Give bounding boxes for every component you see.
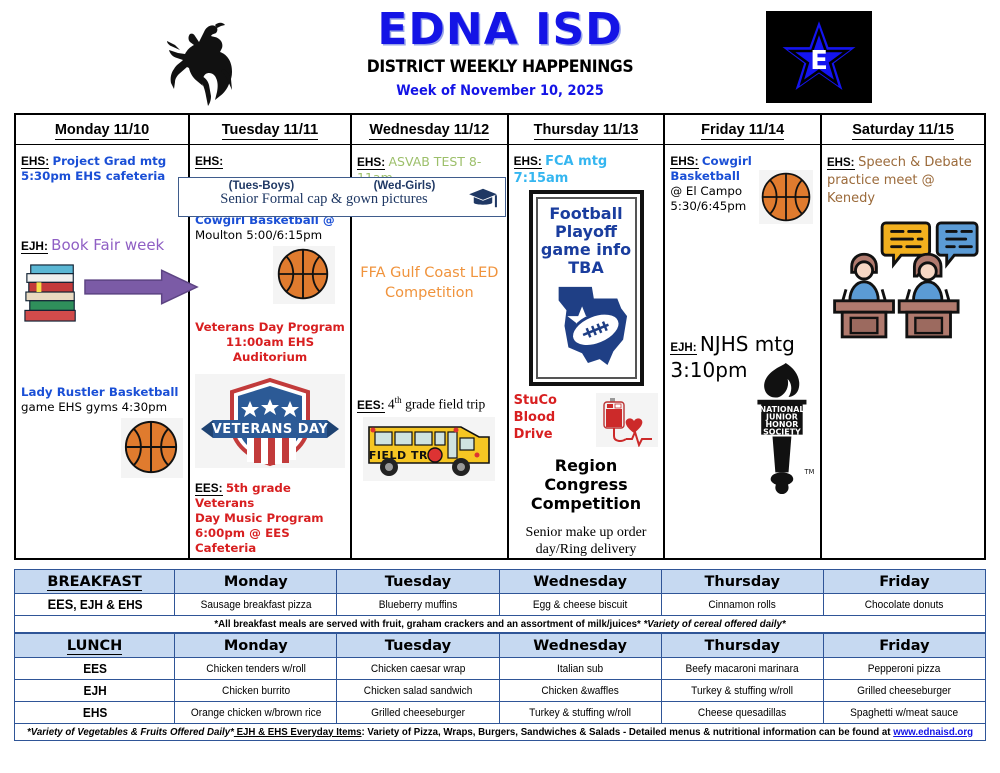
breakfast-row-label: EES, EJH & EHS — [19, 594, 171, 616]
tag-ehs: EHS: — [670, 154, 698, 169]
calendar-column-saturday: Saturday 11/15 EHS: Speech & Debate prac… — [822, 115, 984, 558]
event-text-line3: 5:30/6:45pm — [670, 199, 746, 213]
tag-ejh: EJH: — [21, 239, 48, 254]
event-text: NJHS mtg — [700, 332, 795, 356]
header-divider — [352, 144, 507, 145]
bucking-bronco-logo — [160, 14, 266, 110]
breakfast-label-rest: , EJH & EHS — [73, 598, 142, 612]
texas-football-icon — [539, 279, 633, 365]
lunch-ejh-tuesday: Chicken salad sandwich — [343, 680, 492, 702]
day-heading-thursday-text: Thursday 11/13 — [534, 122, 639, 140]
table-row: EHS Orange chicken w/brown rice Grilled … — [15, 702, 986, 724]
breakfast-title-cell: BREAKFAST — [15, 570, 175, 594]
breakfast-col-friday: Friday — [823, 570, 985, 594]
header-divider — [190, 144, 350, 145]
graduation-cap-icon — [467, 186, 499, 210]
lunch-note-row: *Variety of Vegetables & Fruits Offered … — [15, 724, 986, 741]
tag-ejh: EJH: — [670, 342, 696, 355]
tag-ees: EES: — [357, 398, 385, 413]
table-row: EES Chicken tenders w/roll Chicken caesa… — [15, 658, 986, 680]
lunch-ees-tuesday: Chicken caesar wrap — [343, 658, 492, 680]
lunch-note-italic: *Variety of Vegetables & Fruits Offered … — [27, 727, 234, 738]
lunch-col-wednesday: Wednesday — [499, 634, 661, 658]
header-divider — [16, 144, 188, 145]
calendar-column-thursday: Thursday 11/13 EHS: FCA mtg 7:15am Footb… — [509, 115, 666, 558]
day-heading-monday-text: Monday 11/10 — [55, 122, 149, 140]
page-subtitle: DISTRICT WEEKLY HAPPENINGS — [288, 57, 711, 77]
lunch-ees-friday: Pepperoni pizza — [830, 658, 979, 680]
event-ees-veterans-music-program: EES: 5th grade Veterans Day Music Progra… — [195, 481, 345, 556]
event-text-line2: 11:00am EHS Auditorium — [226, 335, 314, 364]
day-heading-tuesday: Tuesday 11/11 — [195, 115, 345, 141]
capgown-day-labels: (Tues-Boys) (Wed-Girls) — [179, 178, 505, 192]
senior-cap-gown-pictures-box: (Tues-Boys) (Wed-Girls) Senior Formal ca… — [178, 177, 506, 217]
lunch-ehs-friday: Spaghetti w/meat sauce — [830, 702, 979, 724]
event-text: FFA Gulf Coast LED — [360, 265, 498, 281]
lunch-title-cell: LUNCH — [15, 634, 175, 658]
event-text: Senior make up order — [526, 525, 647, 540]
field-trip-bus-graphic: FIELD TRIP — [363, 417, 495, 481]
lunch-header-row: LUNCH Monday Tuesday Wednesday Thursday … — [15, 634, 986, 658]
event-cowgirl-basketball-elcampo: EHS: Cowgirl Basketball @ El Campo 5:30/… — [670, 154, 815, 214]
lunch-row-label-ehs: EHS — [19, 702, 171, 724]
header-divider — [665, 144, 820, 145]
breakfast-note-part1: *All breakfast meals are served with fru… — [214, 619, 643, 630]
event-text-line2: 5:30pm EHS cafeteria — [21, 169, 165, 183]
lunch-col-monday: Monday — [175, 634, 337, 658]
event-4th-grade-field-trip: EES: 4th grade field trip — [357, 395, 502, 413]
page-header: EDNA ISD DISTRICT WEEKLY HAPPENINGS Week… — [0, 0, 1000, 110]
poster-line-4: TBA — [568, 259, 604, 277]
tag-ehs: EHS: — [195, 154, 223, 169]
tag-ehs: EHS: — [514, 154, 542, 169]
breakfast-note: *All breakfast meals are served with fru… — [15, 616, 986, 633]
event-stuco-blood-drive: StuCo Blood Drive — [514, 393, 659, 447]
breakfast-menu-table: BREAKFAST Monday Tuesday Wednesday Thurs… — [14, 569, 986, 633]
event-lady-rustler-basketball: Lady Rustler Basketball game EHS gyms 4:… — [21, 385, 183, 415]
event-ffa-gulf-coast-led: FFA Gulf Coast LED Competition — [357, 264, 502, 303]
day-heading-friday-text: Friday 11/14 — [701, 122, 784, 140]
njhs-trademark: TM — [804, 468, 814, 476]
week-of-label: Week of November 10, 2025 — [286, 83, 714, 99]
breakfast-row: EES, EJH & EHS Sausage breakfast pizza B… — [15, 594, 986, 616]
lunch-ehs-wednesday: Turkey & stuffing w/roll — [506, 702, 655, 724]
day-heading-monday: Monday 11/10 — [21, 115, 183, 141]
njhs-torch-logo: NATIONAL JUNIOR HONOR SOCIETY TM — [748, 358, 814, 500]
lunch-note-rest: : Variety of Pizza, Wraps, Burgers, Sand… — [362, 727, 894, 738]
veterans-day-shield-icon: VETERANS DAY — [195, 374, 345, 468]
header-divider — [509, 144, 664, 145]
blood-donation-icon — [596, 393, 658, 447]
lunch-col-thursday: Thursday — [661, 634, 823, 658]
event-book-fair: EJH: Book Fair week — [21, 236, 183, 255]
event-text-line2: @ El Campo — [670, 184, 742, 198]
veterans-day-badge-graphic: VETERANS DAY — [195, 374, 345, 468]
logo-letter: E — [810, 46, 828, 76]
event-text: Veterans Day Program — [195, 320, 345, 334]
day-heading-tuesday-text: Tuesday 11/11 — [222, 122, 318, 140]
lunch-menu-table: LUNCH Monday Tuesday Wednesday Thursday … — [14, 633, 986, 741]
badge-text: VETERANS DAY — [212, 422, 329, 437]
lunch-note: *Variety of Vegetables & Fruits Offered … — [15, 724, 986, 741]
day-heading-saturday: Saturday 11/15 — [827, 115, 979, 141]
breakfast-header-row: BREAKFAST Monday Tuesday Wednesday Thurs… — [15, 570, 986, 594]
lunch-col-friday: Friday — [823, 634, 985, 658]
poster-line-1: Football — [549, 205, 622, 223]
football-playoff-poster: Football Playoff game info TBA — [529, 190, 644, 386]
basketball-icon — [759, 170, 813, 224]
tag-ehs: EHS: — [827, 157, 854, 170]
book-fair-graphics — [21, 257, 183, 345]
capgown-text: Senior Formal cap & gown pictures — [179, 191, 505, 208]
breakfast-label-bold: EES — [47, 597, 73, 612]
event-text: StuCo — [514, 393, 557, 408]
page-title: EDNA ISD — [270, 8, 730, 52]
breakfast-item-tuesday: Blueberry muffins — [343, 594, 492, 616]
event-text-line2: day/Ring delivery — [536, 542, 637, 557]
event-text: Project Grad mtg — [52, 154, 166, 168]
right-arrow-icon — [83, 267, 201, 307]
edna-isd-star-logo: E — [766, 11, 872, 103]
lunch-title: LUNCH — [67, 638, 122, 655]
lunch-ees-wednesday: Italian sub — [506, 658, 655, 680]
event-ehs-label: EHS: — [195, 154, 345, 169]
lunch-col-tuesday: Tuesday — [337, 634, 499, 658]
tag-ehs: EHS: — [357, 155, 385, 170]
title-block: EDNA ISD DISTRICT WEEKLY HAPPENINGS Week… — [270, 8, 730, 99]
lunch-ejh-monday: Chicken burrito — [181, 680, 330, 702]
blood-drive-graphic — [596, 393, 658, 447]
basketball-graphic-frame — [759, 170, 813, 224]
day-heading-wednesday-text: Wednesday 11/12 — [369, 122, 489, 140]
lunch-note-underline: EJH & EHS Everyday Items — [234, 727, 362, 738]
tag-ehs: EHS: — [21, 154, 49, 169]
event-text-line2: game EHS gyms 4:30pm — [21, 400, 167, 414]
breakfast-item-thursday: Cinnamon rolls — [668, 594, 817, 616]
event-text: Speech & Debate — [858, 155, 972, 170]
basketball-icon — [273, 246, 333, 302]
lunch-row-label-ejh: EJH — [19, 680, 171, 702]
breakfast-item-monday: Sausage breakfast pizza — [181, 594, 330, 616]
event-fca-meeting: EHS: FCA mtg 7:15am — [514, 154, 659, 187]
calendar-column-friday: Friday 11/14 EHS: Cowgirl Basketball @ E… — [665, 115, 822, 558]
breakfast-note-row: *All breakfast meals are served with fru… — [15, 616, 986, 633]
breakfast-col-wednesday: Wednesday — [499, 570, 661, 594]
day-heading-thursday: Thursday 11/13 — [514, 115, 659, 141]
breakfast-note-part2: *Variety of cereal offered daily* — [643, 619, 785, 630]
poster-inner: Football Playoff game info TBA — [536, 197, 637, 379]
event-text: Lady Rustler Basketball — [21, 385, 178, 399]
lunch-ehs-tuesday: Grilled cheeseburger — [343, 702, 492, 724]
lunch-ejh-friday: Grilled cheeseburger — [830, 680, 979, 702]
event-veterans-day-program: Veterans Day Program 11:00am EHS Auditor… — [195, 320, 345, 365]
school-bus-icon: FIELD TRIP — [363, 417, 495, 481]
basketball-graphic-frame — [273, 246, 335, 304]
calendar-column-monday: Monday 11/10 EHS: Project Grad mtg 5:30p… — [16, 115, 190, 558]
stack-of-books-icon — [23, 257, 81, 329]
breakfast-title: BREAKFAST — [47, 574, 141, 591]
lunch-ees-thursday: Beefy macaroni marinara — [668, 658, 817, 680]
header-divider — [822, 144, 984, 145]
poster-line-2: Playoff — [555, 223, 617, 241]
debate-podium-icon — [827, 216, 979, 340]
breakfast-col-monday: Monday — [175, 570, 337, 594]
edna-isd-website-link[interactable]: www.ednaisd.org — [893, 727, 973, 738]
event-text-rest: grade field trip — [402, 397, 486, 412]
ordinal-suffix: th — [395, 395, 402, 405]
basketball-icon — [121, 418, 181, 476]
event-text-line2: practice meet @ Kenedy — [827, 173, 935, 206]
lunch-row-label-ees: EES — [19, 658, 171, 680]
lunch-ejh-wednesday: Chicken &waffles — [506, 680, 655, 702]
lunch-ehs-monday: Orange chicken w/brown rice — [181, 702, 330, 724]
event-text: Region Congress — [544, 456, 627, 494]
event-project-grad: EHS: Project Grad mtg 5:30pm EHS cafeter… — [21, 154, 183, 184]
day-heading-friday: Friday 11/14 — [670, 115, 815, 141]
day-heading-saturday-text: Saturday 11/15 — [852, 122, 954, 140]
event-text: 4 — [388, 397, 395, 412]
day-heading-wednesday: Wednesday 11/12 — [357, 115, 502, 141]
event-text-line3: 6:00pm @ EES Cafeteria — [195, 526, 290, 555]
tag-ees: EES: — [195, 481, 223, 496]
event-text-line2: Day Music Program — [195, 511, 324, 525]
event-text-line2: Competition — [385, 285, 474, 301]
event-region-congress-competition: Region Congress Competition — [514, 457, 659, 514]
poster-line-3: game info — [541, 241, 631, 259]
njhs-line-4: SOCIETY — [763, 427, 801, 436]
lunch-ees-monday: Chicken tenders w/roll — [181, 658, 330, 680]
table-row: EJH Chicken burrito Chicken salad sandwi… — [15, 680, 986, 702]
event-text-line2: Blood Drive — [514, 410, 556, 442]
breakfast-col-tuesday: Tuesday — [337, 570, 499, 594]
breakfast-col-thursday: Thursday — [661, 570, 823, 594]
lunch-ejh-thursday: Turkey & stuffing w/roll — [668, 680, 817, 702]
basketball-graphic-frame — [121, 418, 183, 478]
event-senior-makeup-order: Senior make up order day/Ring delivery — [514, 525, 659, 559]
event-text-line2: 3:10pm — [670, 358, 747, 382]
breakfast-item-friday: Chocolate donuts — [830, 594, 979, 616]
breakfast-item-wednesday: Egg & cheese biscuit — [506, 594, 655, 616]
event-text-line2: Moulton 5:00/6:15pm — [195, 228, 322, 242]
event-text: Book Fair week — [51, 236, 164, 254]
event-text-line2: Competition — [531, 494, 641, 513]
event-speech-debate: EHS: Speech & Debate practice meet @ Ken… — [827, 154, 979, 208]
event-cowgirl-basketball-moulton: Cowgirl Basketball @ Moulton 5:00/6:15pm — [195, 213, 345, 243]
lunch-ehs-thursday: Cheese quesadillas — [668, 702, 817, 724]
